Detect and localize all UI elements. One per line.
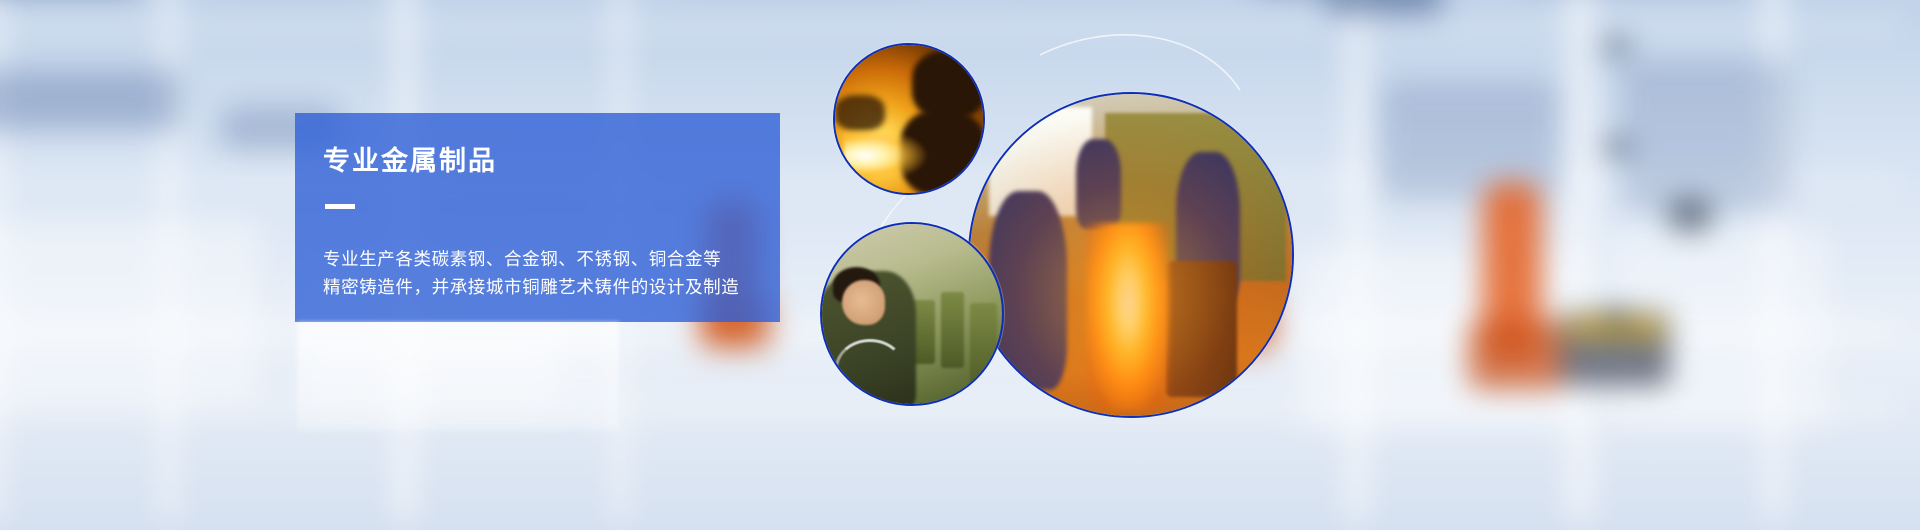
worker-face-shape xyxy=(842,280,885,325)
component-stack-2 xyxy=(941,292,964,368)
weld-spark-glow xyxy=(844,128,927,178)
promo-text-panel: 专业金属制品 专业生产各类碳素钢、合金钢、不锈钢、铜合金等 精密铸造件，并承接城… xyxy=(295,113,780,322)
promo-description-line-2: 精密铸造件，并承接城市铜雕艺术铸件的设计及制造 xyxy=(323,273,780,301)
component-stack-3 xyxy=(970,303,997,389)
promo-description: 专业生产各类碳素钢、合金钢、不锈钢、铜合金等 精密铸造件，并承接城市铜雕艺术铸件… xyxy=(323,245,780,302)
welding-table-shape xyxy=(835,95,885,131)
welding-sparks-photo xyxy=(833,43,985,195)
factory-worker-photo xyxy=(820,222,1004,406)
welder-helmet-shape xyxy=(912,51,985,119)
promo-description-line-1: 专业生产各类碳素钢、合金钢、不锈钢、铜合金等 xyxy=(323,245,780,273)
foundry-pour-photo xyxy=(968,92,1294,418)
worker-wire-coil xyxy=(835,339,906,399)
background-panel-slab xyxy=(297,322,619,430)
page-title: 专业金属制品 xyxy=(323,147,780,177)
hero-banner: 专业金属制品 专业生产各类碳素钢、合金钢、不锈钢、铜合金等 精密铸造件，并承接城… xyxy=(0,0,1920,530)
promo-text-panel-inner: 专业金属制品 专业生产各类碳素钢、合金钢、不锈钢、铜合金等 精密铸造件，并承接城… xyxy=(295,113,780,301)
molten-metal-glow xyxy=(970,94,1292,416)
title-divider xyxy=(325,204,355,209)
